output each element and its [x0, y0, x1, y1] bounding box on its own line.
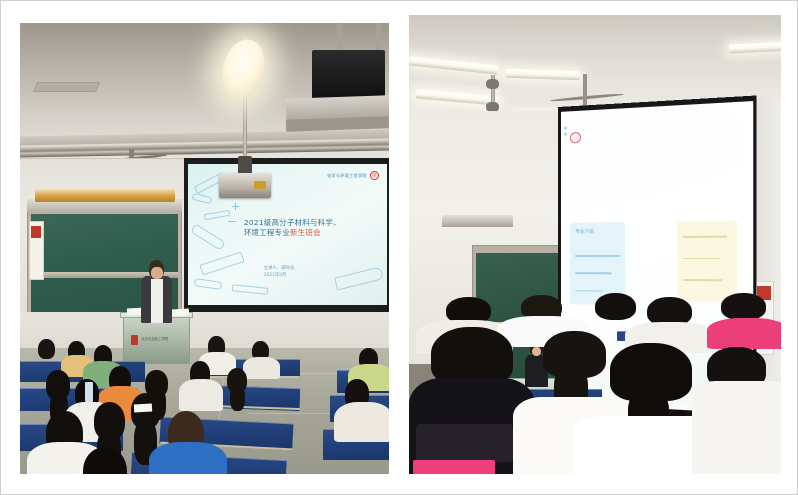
- doodle-minus-icon: [228, 221, 236, 222]
- student-head-foreground: [431, 327, 513, 385]
- university-seal-icon: ◎: [370, 171, 379, 180]
- student-paper: [134, 404, 153, 413]
- jacket-graphic: [413, 460, 495, 474]
- speaker-face: [151, 267, 163, 280]
- doodle-plus-icon: [232, 203, 239, 210]
- doodle-clip-icon: [194, 278, 223, 290]
- student-body: [179, 379, 223, 411]
- wall-notice: [29, 221, 44, 280]
- student-body: [707, 318, 781, 349]
- slide-header-text: 化学与环境工程学院: [327, 173, 367, 179]
- slide-title-line2-plain: 环境工程专业: [244, 228, 290, 237]
- student-body: [334, 402, 389, 443]
- ceiling-panel-icon: [33, 82, 100, 92]
- doodle-pen-icon: [204, 210, 230, 220]
- slide-title: 2021级高分子材料与科学、 环境工程专业新生班会: [244, 218, 383, 238]
- podium-label: 北京石油化工学院: [141, 336, 168, 341]
- student-body-foreground: [692, 381, 781, 474]
- doodle-eraser-icon: [192, 193, 213, 205]
- student-body: [149, 442, 226, 474]
- student-head: [595, 293, 636, 320]
- ceiling-black-box: [312, 50, 386, 100]
- projection-screen-frame: 化学与环境工程学院 ◎ 2021级高分子材料与科学、 环境工程专业新生班会 主讲…: [184, 158, 389, 311]
- doodle-brush-icon: [232, 284, 268, 295]
- podium-seal-icon: [131, 335, 139, 345]
- ceiling-projector-icon: [219, 173, 271, 198]
- doodle-notebook-icon: [200, 251, 245, 275]
- photo-left: 化学与环境工程学院 ◎ 2021级高分子材料与科学、 环境工程专业新生班会 主讲…: [20, 23, 389, 474]
- student-head: [721, 293, 766, 320]
- slide-title-line1: 2021级高分子材料与科学、: [244, 218, 383, 228]
- speaker-shirt: [151, 279, 163, 323]
- audience-foreground: [409, 281, 781, 474]
- podium-paper-2: [171, 308, 190, 316]
- slide-title-line2: 环境工程专业新生班会: [244, 228, 383, 238]
- projection-screen: 化学与环境工程学院 ◎ 2021级高分子材料与科学、 环境工程专业新生班会 主讲…: [188, 164, 386, 305]
- photo-collage: 化学与环境工程学院 ◎ 2021级高分子材料与科学、 环境工程专业新生班会 主讲…: [0, 0, 798, 495]
- student-head: [38, 339, 55, 359]
- slide-title-line2-highlight: 新生班会: [290, 228, 321, 237]
- slide-header: 化学与环境工程学院 ◎: [327, 171, 379, 180]
- slide-subtitle-line2: 2021年9月: [264, 273, 363, 280]
- speaker-male: [140, 260, 173, 323]
- slide-subtitle-line1: 主讲人：辅导员: [264, 266, 363, 273]
- board-lamp-icon: [35, 188, 175, 202]
- water-bottle-icon: [85, 382, 93, 402]
- lace-panel: [416, 424, 513, 463]
- classroom-rear-scene: 专业介绍 北京石油化工学院: [409, 15, 781, 474]
- doodle-book-icon: [190, 223, 226, 250]
- slide-subtitle: 主讲人：辅导员 2021年9月: [264, 266, 363, 279]
- student-ponytail: [230, 384, 245, 411]
- photo-right: 专业介绍 北京石油化工学院: [409, 15, 781, 474]
- student-body: [243, 357, 280, 380]
- classroom-front-scene: 化学与环境工程学院 ◎ 2021级高分子材料与科学、 环境工程专业新生班会 主讲…: [20, 23, 389, 474]
